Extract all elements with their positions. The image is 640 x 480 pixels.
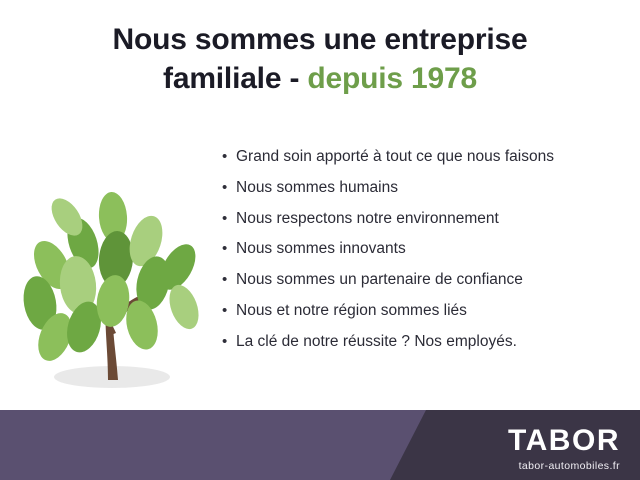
list-item-label: Nous et notre région sommes liés bbox=[236, 302, 467, 320]
list-item-label: Nous sommes un partenaire de confiance bbox=[236, 271, 523, 289]
title-highlight-year: depuis 1978 bbox=[307, 62, 477, 95]
bullet-icon: • bbox=[222, 149, 236, 164]
bullet-icon: • bbox=[222, 272, 236, 287]
list-item: • Grand soin apporté à tout ce que nous … bbox=[222, 148, 632, 166]
list-item-label: Nous sommes humains bbox=[236, 179, 398, 197]
brand-name-part2: O bbox=[572, 424, 597, 457]
title-line-2: familiale - depuis 1978 bbox=[0, 61, 640, 98]
brand-name-part1: TAB bbox=[508, 424, 572, 457]
brand-logo: TABOR tabor-automobiles.fr bbox=[508, 426, 620, 472]
bullet-icon: • bbox=[222, 334, 236, 349]
bullet-icon: • bbox=[222, 241, 236, 256]
bullet-icon: • bbox=[222, 303, 236, 318]
list-item: • Nous sommes un partenaire de confiance bbox=[222, 271, 632, 289]
bullet-icon: • bbox=[222, 211, 236, 226]
slide: Nous sommes une entreprise familiale - d… bbox=[0, 0, 640, 480]
page-title: Nous sommes une entreprise familiale - d… bbox=[0, 22, 640, 97]
brand-name: TABOR bbox=[508, 426, 620, 456]
tree-icon bbox=[12, 155, 222, 400]
list-item-label: Grand soin apporté à tout ce que nous fa… bbox=[236, 148, 554, 166]
brand-url: tabor-automobiles.fr bbox=[508, 460, 620, 472]
bullet-list: • Grand soin apporté à tout ce que nous … bbox=[222, 148, 632, 364]
brand-name-part3: R bbox=[597, 424, 620, 457]
footer-bar: TABOR tabor-automobiles.fr bbox=[0, 410, 640, 480]
list-item: • Nous et notre région sommes liés bbox=[222, 302, 632, 320]
title-line-1: Nous sommes une entreprise bbox=[0, 22, 640, 59]
list-item-label: La clé de notre réussite ? Nos employés. bbox=[236, 333, 517, 351]
list-item: • Nous sommes innovants bbox=[222, 240, 632, 258]
title-line-2-prefix: familiale - bbox=[163, 62, 299, 95]
tree-illustration bbox=[12, 155, 222, 400]
list-item: • Nous sommes humains bbox=[222, 179, 632, 197]
bullet-icon: • bbox=[222, 180, 236, 195]
list-item: • La clé de notre réussite ? Nos employé… bbox=[222, 333, 632, 351]
list-item: • Nous respectons notre environnement bbox=[222, 210, 632, 228]
list-item-label: Nous sommes innovants bbox=[236, 240, 406, 258]
list-item-label: Nous respectons notre environnement bbox=[236, 210, 499, 228]
